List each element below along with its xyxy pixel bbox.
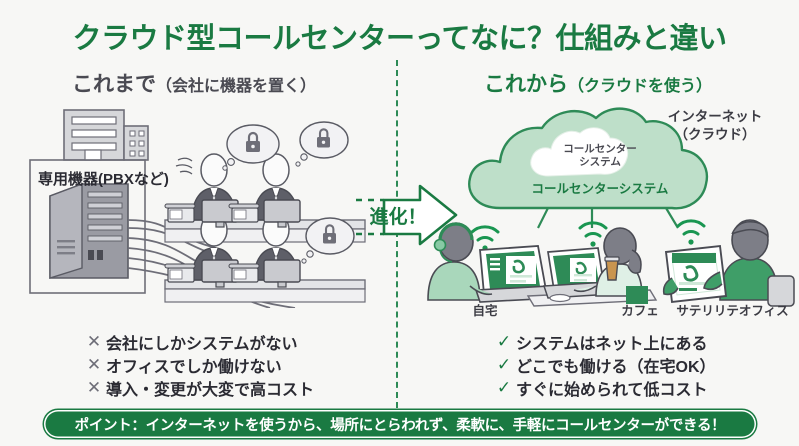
cross-icon: ✕ [82, 355, 106, 375]
internet-cloud-label: インターネット （クラウド） [640, 108, 790, 144]
internet-cloud-label-line1: インターネット [640, 108, 790, 126]
section-header-after-main: これから [484, 73, 568, 96]
drawback-list: ✕ 会社にしかシステムがない ✕ オフィスでしか働けない ✕ 導入・変更が大変で… [82, 330, 314, 399]
wifi-icon [472, 221, 704, 251]
list-item: ✓ どこでも働ける（在宅OK） [492, 353, 716, 376]
list-item-label: すぐに始められて低コスト [516, 376, 708, 400]
cloud-inner-label-line2: システム [540, 156, 660, 169]
list-item-label: 会社にしかシステムがない [106, 330, 298, 354]
cloud-system-label: コールセンターシステム [510, 178, 690, 197]
cloud-inner-label: コールセンター システム [540, 143, 660, 169]
headset-squiggle-icon [176, 158, 192, 174]
place-label-cafe: カフェ [605, 300, 675, 319]
list-item-label: どこでも働ける（在宅OK） [516, 353, 716, 377]
section-header-before-main: これまで [72, 73, 156, 96]
section-header-before-sub: （会社に機器を置く） [156, 78, 316, 95]
cloud-inner-label-line1: コールセンター [540, 143, 660, 156]
place-label-satellite: サテリリテオフィス [670, 300, 795, 319]
page-title: クラウド型コールセンターってなに？仕組みと違い [0, 15, 799, 57]
benefit-list: ✓ システムはネット上にある ✓ どこでも働ける（在宅OK） ✓ すぐに始められ… [492, 330, 716, 399]
cross-icon: ✕ [82, 332, 106, 352]
infographic-canvas: クラウド型コールセンターってなに？仕組みと違い これまで（会社に機器を置く） こ… [0, 0, 799, 446]
check-icon: ✓ [492, 378, 516, 398]
key-point-banner: ポイント：インターネットを使うから、場所にとらわれず、柔軟に、手軽にコールセンタ… [44, 410, 756, 438]
list-item: ✓ システムはネット上にある [492, 330, 716, 353]
pbx-server-icon [50, 184, 128, 278]
list-item-label: 導入・変更が大変で高コスト [106, 376, 314, 400]
home-worker-figure [428, 223, 556, 302]
section-header-before: これまで（会社に機器を置く） [72, 68, 316, 98]
cloud-connectors [538, 208, 678, 228]
equipment-label: 専用機器(PBXなど) [38, 168, 169, 189]
key-point-banner-text: ポイント：インターネットを使うから、場所にとらわれず、柔軟に、手軽にコールセンタ… [75, 414, 726, 435]
list-item: ✕ 会社にしかシステムがない [82, 330, 314, 353]
check-icon: ✓ [492, 332, 516, 352]
place-label-home: 自宅 [450, 300, 520, 319]
internet-cloud-label-line2: （クラウド） [640, 126, 790, 144]
list-item: ✓ すぐに始められて低コスト [492, 376, 716, 399]
cafe-worker-figure [528, 228, 656, 306]
list-item: ✕ オフィスでしか働けない [82, 353, 314, 376]
legacy-oncprem-illustration [20, 108, 380, 308]
list-item-label: システムはネット上にある [516, 330, 708, 354]
list-item: ✕ 導入・変更が大変で高コスト [82, 376, 314, 399]
office-building-icon [64, 110, 148, 160]
section-header-after: これから（クラウドを使う） [484, 68, 712, 98]
section-header-after-sub: （クラウドを使う） [568, 78, 712, 95]
place-labels: 自宅 カフェ サテリリテオフィス [420, 300, 795, 320]
list-item-label: オフィスでしか働けない [106, 353, 282, 377]
cross-icon: ✕ [82, 378, 106, 398]
desk-row-front [165, 280, 365, 302]
check-icon: ✓ [492, 355, 516, 375]
